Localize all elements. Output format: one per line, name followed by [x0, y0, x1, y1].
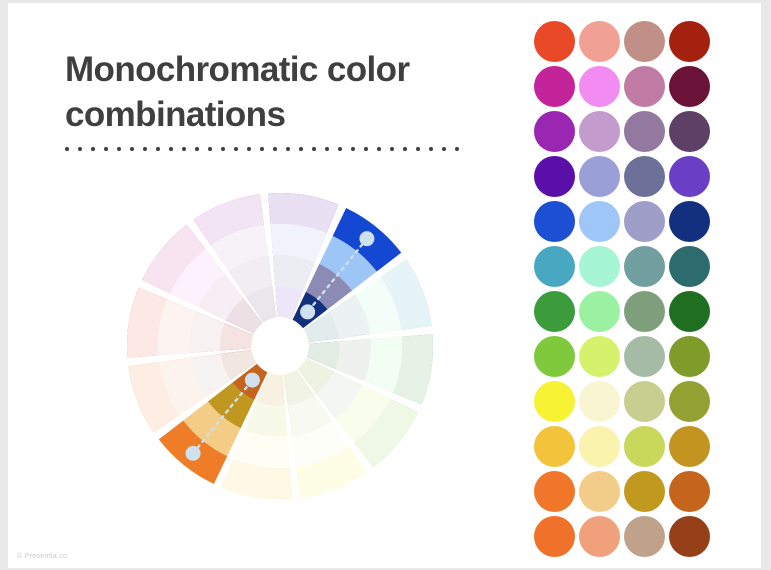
swatch-red-hue[interactable]: [534, 21, 575, 62]
swatch-red-tint[interactable]: [579, 21, 620, 62]
swatch-light-green-tint[interactable]: [579, 336, 620, 377]
swatch-light-green-tone[interactable]: [624, 336, 665, 377]
swatch-deep-orange-tint[interactable]: [579, 516, 620, 557]
slide-canvas: Monochromatic color combinations © Prese…: [0, 0, 771, 570]
divider-dot: [364, 147, 368, 151]
divider-dot: [143, 147, 147, 151]
divider-dot: [130, 147, 134, 151]
swatch-purple-hue[interactable]: [534, 111, 575, 152]
swatch-amber-hue[interactable]: [534, 426, 575, 467]
divider-dot: [182, 147, 186, 151]
swatch-orange-tint[interactable]: [579, 471, 620, 512]
divider-dot: [208, 147, 212, 151]
page-edge-left: [0, 0, 8, 570]
swatch-blue-tint[interactable]: [579, 201, 620, 242]
swatch-teal-shade[interactable]: [669, 246, 710, 287]
swatch-green-tint[interactable]: [579, 291, 620, 332]
swatch-green-shade[interactable]: [669, 291, 710, 332]
divider-dot: [195, 147, 199, 151]
title-block: Monochromatic color combinations: [65, 48, 485, 151]
swatch-blue-tone[interactable]: [624, 201, 665, 242]
swatch-purple-shade[interactable]: [669, 111, 710, 152]
swatch-orange-hue[interactable]: [534, 471, 575, 512]
divider-dot: [377, 147, 381, 151]
color-swatch-grid: [534, 21, 714, 561]
wheel-selection-handle[interactable]: [186, 446, 201, 461]
swatch-orange-tone[interactable]: [624, 471, 665, 512]
title-line-2: combinations: [65, 95, 285, 134]
title-line-1: Monochromatic color: [65, 50, 409, 89]
swatch-yellow-hue[interactable]: [534, 381, 575, 422]
swatch-purple-tone[interactable]: [624, 111, 665, 152]
wheel-selection-handle[interactable]: [359, 231, 374, 246]
divider-dot: [78, 147, 82, 151]
swatch-magenta-hue[interactable]: [534, 66, 575, 107]
swatch-violet-hue[interactable]: [534, 156, 575, 197]
swatch-teal-tint[interactable]: [579, 246, 620, 287]
divider-dot: [104, 147, 108, 151]
page-title: Monochromatic color combinations: [65, 48, 485, 138]
divider-dot: [416, 147, 420, 151]
divider-dot: [338, 147, 342, 151]
divider-dot: [169, 147, 173, 151]
swatch-orange-shade[interactable]: [669, 471, 710, 512]
swatch-light-green-hue[interactable]: [534, 336, 575, 377]
color-wheel-svg: [118, 185, 443, 510]
divider-dot: [65, 147, 69, 151]
divider-dot: [403, 147, 407, 151]
swatch-blue-shade[interactable]: [669, 201, 710, 242]
swatch-deep-orange-shade[interactable]: [669, 516, 710, 557]
color-wheel: [118, 185, 443, 510]
swatch-green-hue[interactable]: [534, 291, 575, 332]
swatch-blue-hue[interactable]: [534, 201, 575, 242]
swatch-purple-tint[interactable]: [579, 111, 620, 152]
swatch-teal-hue[interactable]: [534, 246, 575, 287]
swatch-green-tone[interactable]: [624, 291, 665, 332]
divider-dot: [390, 147, 394, 151]
divider-dot: [260, 147, 264, 151]
divider-dot: [455, 147, 459, 151]
divider-dot: [273, 147, 277, 151]
swatch-red-tone[interactable]: [624, 21, 665, 62]
swatch-amber-shade[interactable]: [669, 426, 710, 467]
divider-dot: [442, 147, 446, 151]
wheel-center-hole: [251, 317, 309, 375]
wheel-selection-handle[interactable]: [245, 373, 260, 388]
swatch-yellow-shade[interactable]: [669, 381, 710, 422]
divider-dot: [325, 147, 329, 151]
swatch-magenta-shade[interactable]: [669, 66, 710, 107]
divider-dot: [234, 147, 238, 151]
divider-dot: [351, 147, 355, 151]
divider-dot: [91, 147, 95, 151]
swatch-yellow-tint[interactable]: [579, 381, 620, 422]
divider-dot: [221, 147, 225, 151]
swatch-deep-orange-tone[interactable]: [624, 516, 665, 557]
slide-body: Monochromatic color combinations © Prese…: [8, 3, 761, 568]
wheel-selection-handle[interactable]: [300, 304, 315, 319]
title-dotted-divider: [65, 147, 457, 151]
swatch-yellow-tone[interactable]: [624, 381, 665, 422]
divider-dot: [286, 147, 290, 151]
divider-dot: [156, 147, 160, 151]
swatch-violet-tone[interactable]: [624, 156, 665, 197]
divider-dot: [247, 147, 251, 151]
divider-dot: [299, 147, 303, 151]
page-edge-right: [761, 0, 771, 570]
swatch-light-green-shade[interactable]: [669, 336, 710, 377]
divider-dot: [429, 147, 433, 151]
swatch-deep-orange-hue[interactable]: [534, 516, 575, 557]
swatch-violet-shade[interactable]: [669, 156, 710, 197]
swatch-amber-tint[interactable]: [579, 426, 620, 467]
swatch-magenta-tone[interactable]: [624, 66, 665, 107]
divider-dot: [117, 147, 121, 151]
swatch-violet-tint[interactable]: [579, 156, 620, 197]
swatch-amber-tone[interactable]: [624, 426, 665, 467]
swatch-red-shade[interactable]: [669, 21, 710, 62]
watermark: © Presentia.co: [17, 553, 67, 560]
divider-dot: [312, 147, 316, 151]
swatch-magenta-tint[interactable]: [579, 66, 620, 107]
swatch-teal-tone[interactable]: [624, 246, 665, 287]
